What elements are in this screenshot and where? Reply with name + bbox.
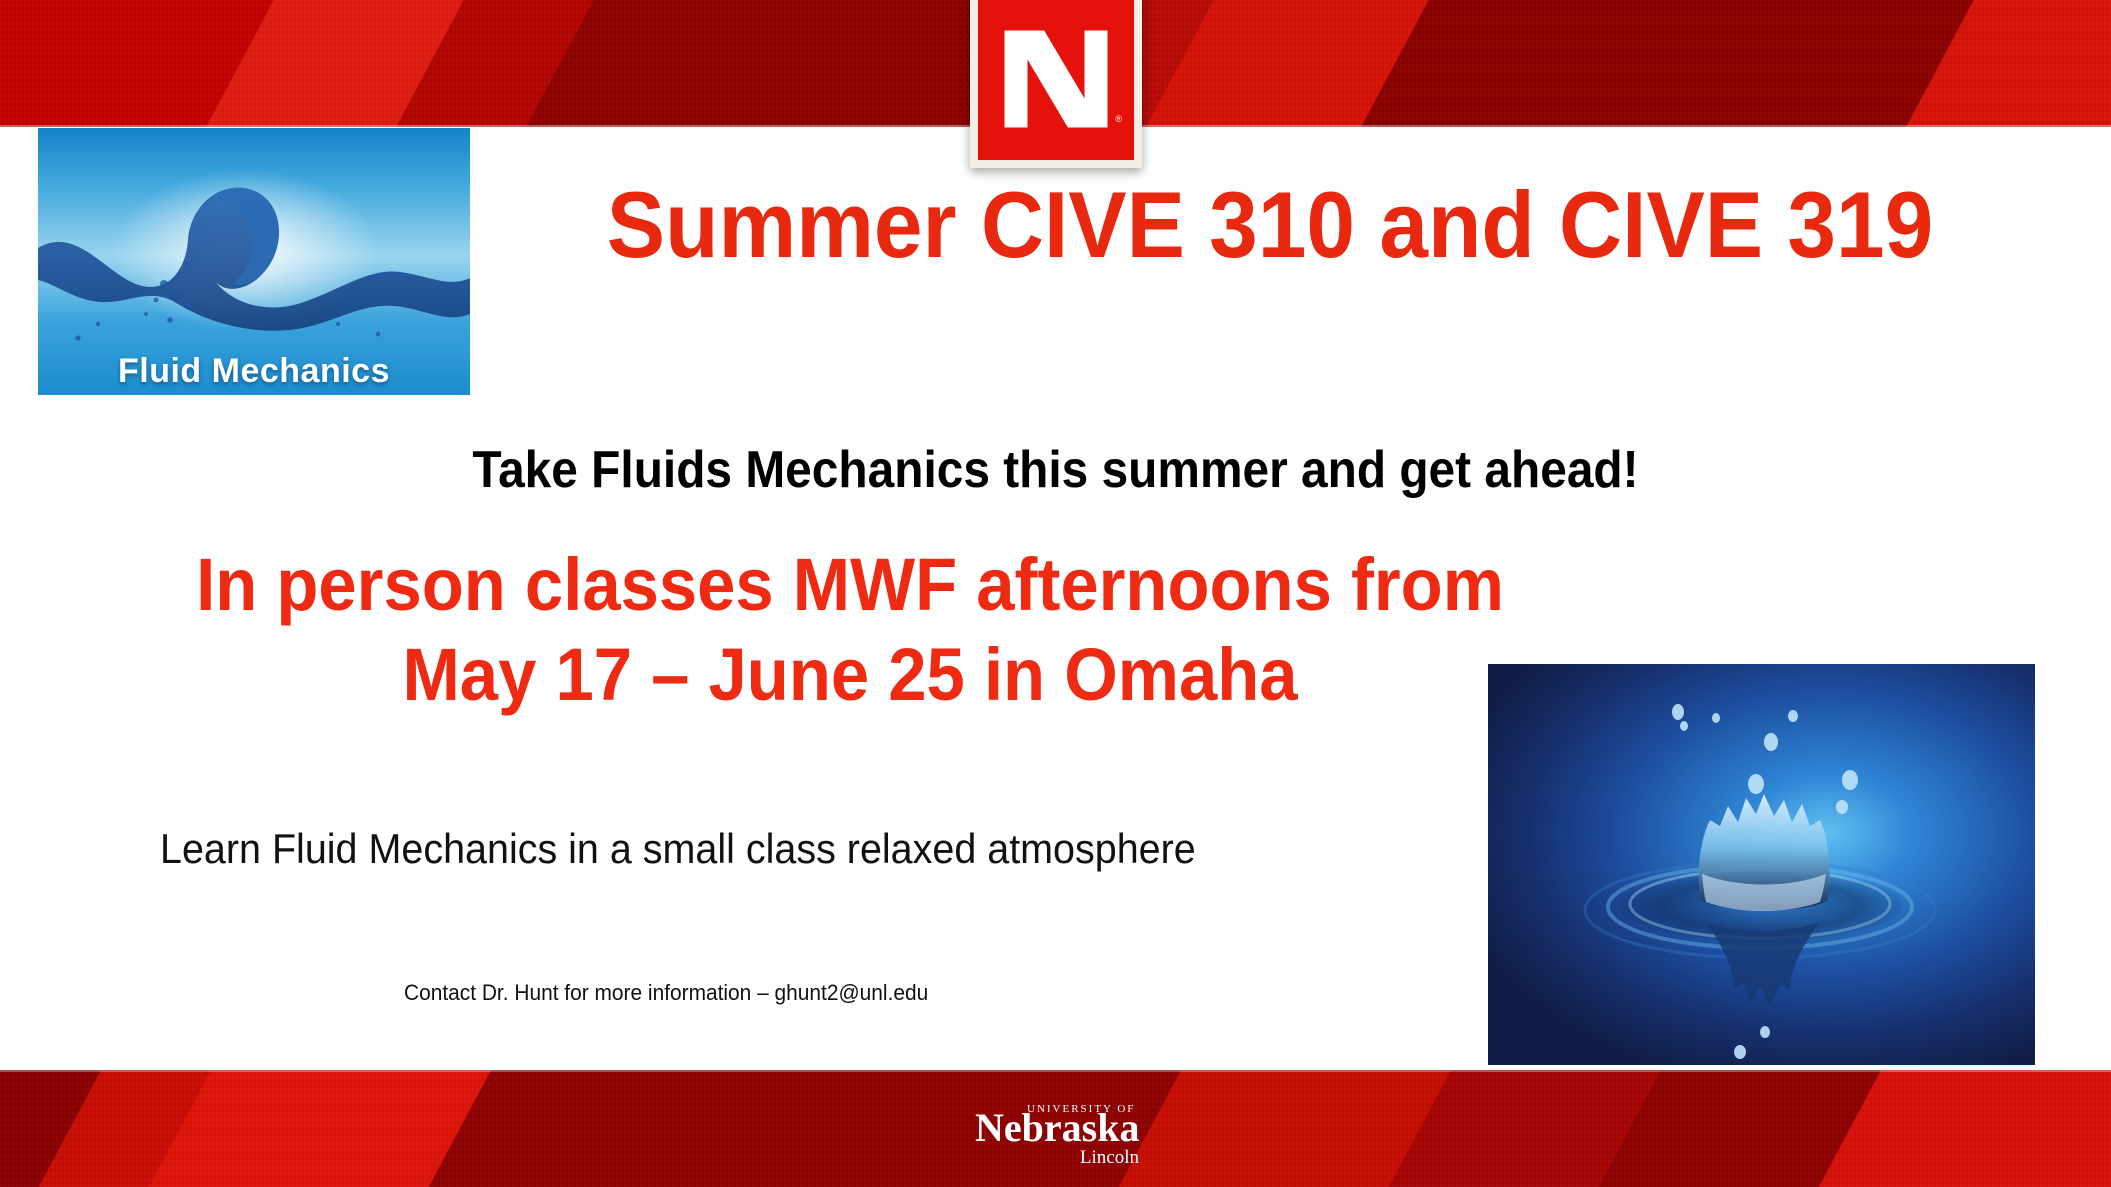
page-title: Summer CIVE 310 and CIVE 319: [535, 178, 2004, 272]
schedule-line-2: May 17 – June 25 in Omaha: [60, 635, 1641, 715]
contact-text: Contact Dr. Hunt for more information – …: [404, 980, 928, 1006]
fluid-mechanics-caption: Fluid Mechanics: [38, 352, 470, 391]
water-droplet-image: [1488, 664, 2035, 1065]
letter-n-icon: [997, 19, 1115, 139]
nebraska-n-logo: ®: [970, 0, 1142, 168]
unl-wordmark-main: Nebraska: [975, 1108, 1145, 1148]
presentation-slide: ® Fluid Me: [0, 0, 2111, 1187]
body-text: Learn Fluid Mechanics in a small class r…: [160, 825, 1196, 873]
unl-wordmark-sub: Lincoln: [1080, 1147, 1139, 1169]
schedule-line-1: In person classes MWF afternoons from: [60, 545, 1641, 625]
subtitle: Take Fluids Mechanics this summer and ge…: [84, 440, 2026, 500]
droplet-splash-graphic: [1488, 664, 2035, 1065]
registered-mark: ®: [1115, 114, 1122, 124]
n-logo-field: ®: [976, 0, 1136, 162]
unl-wordmark: UNIVERSITY OF Nebraska Lincoln: [975, 1103, 1145, 1173]
banner-top-edge: [0, 1070, 2111, 1072]
fluid-mechanics-image: Fluid Mechanics: [38, 128, 470, 395]
